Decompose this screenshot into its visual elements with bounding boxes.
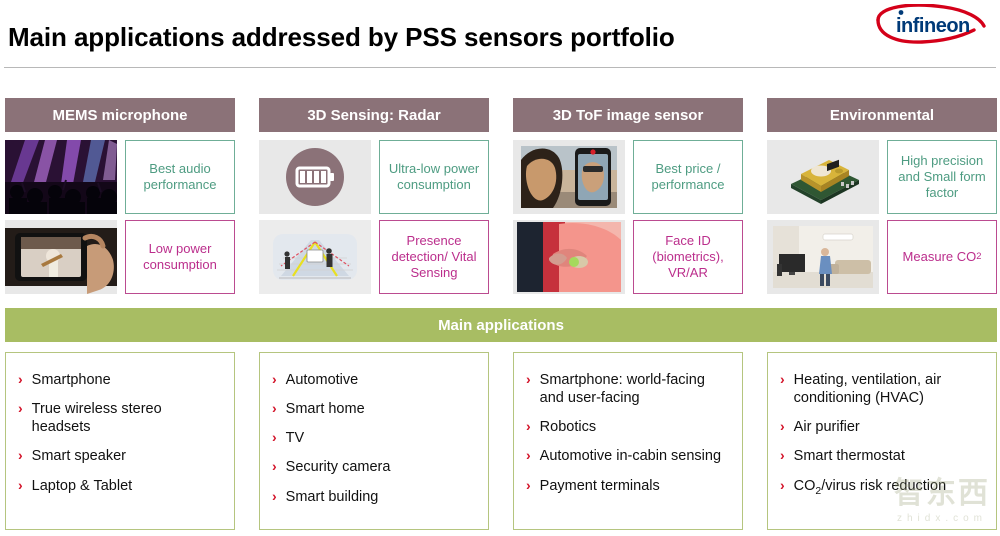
application-list-3d-sensing-radar: › Automotive › Smart home › TV › Securit…: [259, 352, 489, 530]
page-title: Main applications addressed by PSS senso…: [8, 22, 675, 53]
list-item: › Security camera: [272, 458, 478, 476]
chevron-right-icon: ›: [272, 400, 277, 418]
chevron-right-icon: ›: [18, 400, 23, 418]
title-divider: [4, 67, 996, 68]
list-item: › Robotics: [526, 418, 732, 436]
feature-row: High precision and Small form factor: [767, 140, 997, 214]
chevron-right-icon: ›: [272, 458, 277, 476]
slide-root: infineon Main applications addressed by …: [0, 0, 1000, 536]
feature-row: Low power consumption: [5, 220, 235, 294]
application-lists: › Smartphone › True wireless stereo head…: [5, 352, 997, 530]
column-environmental: Environmental: [767, 98, 997, 298]
list-item: › TV: [272, 429, 478, 447]
chevron-right-icon: ›: [780, 477, 785, 495]
application-list-3d-tof-image-sensor: › Smartphone: world-facing and user-faci…: [513, 352, 743, 530]
product-columns: MEMS microphone: [5, 98, 997, 298]
benefit-best-price-performance: Best price / performance: [633, 140, 743, 214]
benefit-high-precision-small-form-factor: High precision and Small form factor: [887, 140, 997, 214]
list-item: › Smart thermostat: [780, 447, 986, 465]
list-item: › Smartphone: world-facing and user-faci…: [526, 371, 732, 407]
chevron-right-icon: ›: [272, 488, 277, 506]
list-item-label: True wireless stereo headsets: [32, 400, 224, 436]
list-item-label: Automotive in-cabin sensing: [540, 447, 721, 465]
column-mems-microphone: MEMS microphone: [5, 98, 235, 298]
chevron-right-icon: ›: [780, 371, 785, 389]
chevron-right-icon: ›: [272, 371, 277, 389]
chevron-right-icon: ›: [18, 371, 23, 389]
benefit-ultra-low-power-consumption: Ultra-low power consumption: [379, 140, 489, 214]
column-rows: High precision and Small form factor: [767, 140, 997, 294]
list-item: › Air purifier: [780, 418, 986, 436]
list-item-label: Air purifier: [794, 418, 860, 436]
column-header-mems-microphone: MEMS microphone: [5, 98, 235, 132]
infineon-logo: infineon: [870, 4, 986, 44]
list-item: › Automotive in-cabin sensing: [526, 447, 732, 465]
column-rows: Best price / performance: [513, 140, 743, 294]
list-item-label: Automotive: [286, 371, 359, 389]
list-item-label: TV: [286, 429, 305, 447]
feature-row: Face ID (biometrics), VR/AR: [513, 220, 743, 294]
list-item: › Automotive: [272, 371, 478, 389]
person-pink-shirt-gesture-photo: [513, 220, 625, 294]
list-item: › Laptop & Tablet: [18, 477, 224, 495]
list-item-label: Laptop & Tablet: [32, 477, 133, 495]
column-header-3d-sensing-radar: 3D Sensing: Radar: [259, 98, 489, 132]
list-item-label: Payment terminals: [540, 477, 660, 495]
benefit-low-power-consumption: Low power consumption: [125, 220, 235, 294]
chevron-right-icon: ›: [526, 418, 531, 436]
column-rows: Best audio performance: [5, 140, 235, 294]
list-item: › Payment terminals: [526, 477, 732, 495]
list-item-label: Smartphone: [32, 371, 111, 389]
list-item: › Smart building: [272, 488, 478, 506]
benefit-face-id-vr-ar: Face ID (biometrics), VR/AR: [633, 220, 743, 294]
list-item-label: Smart thermostat: [794, 447, 905, 465]
feature-row: Ultra-low power consumption: [259, 140, 489, 214]
application-list-environmental: › Heating, ventilation, air conditioning…: [767, 352, 997, 530]
feature-row: Presence detection/ Vital Sensing: [259, 220, 489, 294]
svg-text:infineon: infineon: [896, 15, 970, 37]
radar-room-presence-diagram: [259, 220, 371, 294]
column-rows: Ultra-low power consumption: [259, 140, 489, 294]
benefit-presence-detection-vital-sensing: Presence detection/ Vital Sensing: [379, 220, 489, 294]
benefit-best-audio-performance: Best audio performance: [125, 140, 235, 214]
chevron-right-icon: ›: [18, 447, 23, 465]
feature-row: Best audio performance: [5, 140, 235, 214]
list-item: › True wireless stereo headsets: [18, 400, 224, 436]
list-item: › Smart speaker: [18, 447, 224, 465]
list-item-label: CO2/virus risk reduction: [794, 477, 946, 498]
column-header-3d-tof-image-sensor: 3D ToF image sensor: [513, 98, 743, 132]
chevron-right-icon: ›: [18, 477, 23, 495]
column-header-environmental: Environmental: [767, 98, 997, 132]
list-item-label: Smart home: [286, 400, 365, 418]
list-item-label: Smartphone: world-facing and user-facing: [540, 371, 732, 407]
co2-sensor-module-photo: [767, 140, 879, 214]
chevron-right-icon: ›: [526, 477, 531, 495]
battery-icon: [259, 140, 371, 214]
hand-holding-phone-recording-photo: [5, 220, 117, 294]
chevron-right-icon: ›: [780, 418, 785, 436]
benefit-measure-co2: Measure CO2: [887, 220, 997, 294]
list-item: › Smartphone: [18, 371, 224, 389]
feature-row: Best price / performance: [513, 140, 743, 214]
column-3d-tof-image-sensor: 3D ToF image sensor: [513, 98, 743, 298]
concert-crowd-photo: [5, 140, 117, 214]
chevron-right-icon: ›: [526, 371, 531, 389]
list-item-label: Heating, ventilation, air conditioning (…: [794, 371, 986, 407]
list-item-label: Security camera: [286, 458, 391, 476]
application-list-mems-microphone: › Smartphone › True wireless stereo head…: [5, 352, 235, 530]
chevron-right-icon: ›: [780, 447, 785, 465]
list-item-label: Smart speaker: [32, 447, 126, 465]
list-item-label: Smart building: [286, 488, 379, 506]
chevron-right-icon: ›: [526, 447, 531, 465]
living-room-interior-photo: [767, 220, 879, 294]
list-item: › Heating, ventilation, air conditioning…: [780, 371, 986, 407]
list-item: › CO2/virus risk reduction: [780, 477, 986, 498]
list-item-label: Robotics: [540, 418, 596, 436]
chevron-right-icon: ›: [272, 429, 277, 447]
list-item: › Smart home: [272, 400, 478, 418]
column-3d-sensing-radar: 3D Sensing: Radar Ultra-low power co: [259, 98, 489, 298]
main-applications-bar: Main applications: [5, 308, 997, 342]
feature-row: Measure CO2: [767, 220, 997, 294]
person-face-id-phone-photo: [513, 140, 625, 214]
